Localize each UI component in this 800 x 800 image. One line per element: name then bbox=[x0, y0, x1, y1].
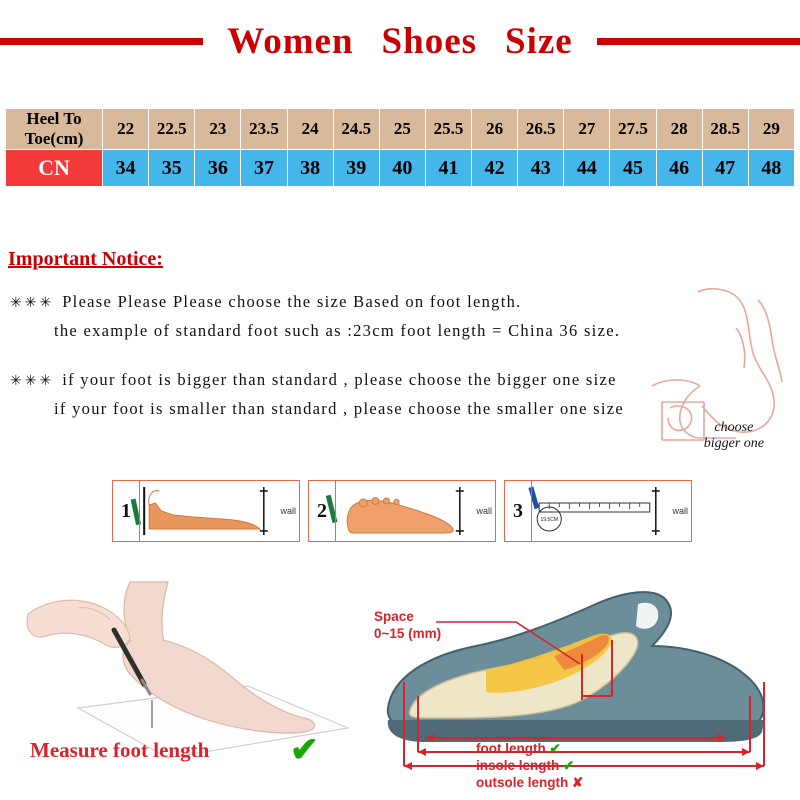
cell-cn-9: 43 bbox=[518, 150, 564, 187]
cell-heel-11: 27.5 bbox=[610, 109, 656, 150]
shoe-legend: foot length ✔ insole length ✔ outsole le… bbox=[476, 740, 583, 791]
cell-heel-5: 24.5 bbox=[333, 109, 379, 150]
choose-bigger-line-2: bigger one bbox=[704, 436, 764, 452]
table-row-cn: CN 34 35 36 37 38 39 40 41 42 43 44 45 4… bbox=[6, 150, 795, 187]
step-2-illustration bbox=[309, 481, 495, 541]
cell-heel-9: 26.5 bbox=[518, 109, 564, 150]
measure-steps-strip: 1 wall 2 wall 3 bbox=[112, 480, 692, 542]
space-label-line-2: 0~15 (mm) bbox=[374, 625, 441, 642]
cell-heel-4: 24 bbox=[287, 109, 333, 150]
title-word-1: Women bbox=[227, 21, 353, 62]
legend-label-insole-length: insole length bbox=[476, 758, 559, 773]
choose-bigger-note: choose bigger one bbox=[704, 420, 764, 452]
cell-cn-10: 44 bbox=[564, 150, 610, 187]
legend-item-insole-length: insole length ✔ bbox=[476, 757, 583, 774]
legend-label-foot-length: foot length bbox=[476, 741, 546, 756]
notice-gap bbox=[10, 344, 710, 366]
cell-heel-7: 25.5 bbox=[425, 109, 471, 150]
step-box-2: 2 wall bbox=[308, 480, 496, 542]
notice-line-3: ✳✳✳if your foot is bigger than standard … bbox=[10, 366, 710, 395]
cell-cn-0: 34 bbox=[103, 150, 149, 187]
title-word-3: Size bbox=[505, 21, 573, 62]
shoe-cross-section-diagram: Space 0~15 (mm) foot length ✔ insole len… bbox=[366, 570, 796, 785]
title-bar-right bbox=[597, 38, 800, 45]
stars-icon-1: ✳✳✳ bbox=[10, 296, 54, 311]
measure-foot-caption: Measure foot length bbox=[30, 738, 209, 763]
stars-icon-2: ✳✳✳ bbox=[10, 374, 54, 389]
legend-item-outsole-length: outsole length ✘ bbox=[476, 774, 583, 791]
cell-cn-7: 41 bbox=[425, 150, 471, 187]
choose-bigger-line-1: choose bbox=[704, 420, 764, 436]
step-3-wall-label: wall bbox=[672, 506, 688, 516]
cell-cn-11: 45 bbox=[610, 150, 656, 187]
cell-cn-5: 39 bbox=[333, 150, 379, 187]
title-word-2: Shoes bbox=[382, 21, 477, 62]
cell-heel-10: 27 bbox=[564, 109, 610, 150]
step-1-illustration bbox=[113, 481, 299, 541]
legend-mark-foot-length: ✔ bbox=[550, 741, 561, 756]
cell-heel-14: 29 bbox=[748, 109, 794, 150]
cell-heel-13: 28.5 bbox=[702, 109, 748, 150]
legend-mark-outsole-length: ✘ bbox=[572, 775, 583, 790]
step-box-3: 3 19.5CM wall bbox=[504, 480, 692, 542]
step-number-3: 3 bbox=[505, 481, 532, 541]
title-text: WomenShoesSize bbox=[203, 20, 596, 63]
notice-block: ✳✳✳Please Please Please choose the size … bbox=[10, 288, 710, 422]
notice-line-1: ✳✳✳Please Please Please choose the size … bbox=[10, 288, 710, 317]
legend-mark-insole-length: ✔ bbox=[563, 758, 574, 773]
step-2-wall-label: wall bbox=[476, 506, 492, 516]
step-number-2: 2 bbox=[309, 481, 336, 541]
notice-text-3: if your foot is bigger than standard , p… bbox=[62, 370, 617, 389]
cell-cn-3: 37 bbox=[241, 150, 287, 187]
cell-cn-4: 38 bbox=[287, 150, 333, 187]
step-1-wall-label: wall bbox=[280, 506, 296, 516]
notice-heading: Important Notice: bbox=[8, 248, 163, 271]
cell-cn-1: 35 bbox=[149, 150, 195, 187]
row-label-heel-to-toe: Heel To Toe(cm) bbox=[6, 109, 103, 150]
cell-cn-6: 40 bbox=[379, 150, 425, 187]
row-label-cn: CN bbox=[6, 150, 103, 187]
cell-cn-8: 42 bbox=[472, 150, 518, 187]
legend-item-foot-length: foot length ✔ bbox=[476, 740, 583, 757]
cell-cn-12: 46 bbox=[656, 150, 702, 187]
step-box-1: 1 wall bbox=[112, 480, 300, 542]
cell-heel-6: 25 bbox=[379, 109, 425, 150]
measure-check-icon: ✔ bbox=[290, 730, 319, 770]
step-3-illustration: 19.5CM bbox=[505, 481, 691, 541]
size-conversion-table: Heel To Toe(cm) 22 22.5 23 23.5 24 24.5 … bbox=[5, 108, 795, 187]
cell-cn-14: 48 bbox=[748, 150, 794, 187]
notice-text-1: Please Please Please choose the size Bas… bbox=[62, 292, 521, 311]
svg-text:19.5CM: 19.5CM bbox=[540, 517, 558, 523]
space-label: Space 0~15 (mm) bbox=[374, 608, 441, 642]
table-row-heel-to-toe: Heel To Toe(cm) 22 22.5 23 23.5 24 24.5 … bbox=[6, 109, 795, 150]
step-number-1: 1 bbox=[113, 481, 140, 541]
cell-heel-8: 26 bbox=[472, 109, 518, 150]
cell-heel-2: 23 bbox=[195, 109, 241, 150]
title-bar-left bbox=[0, 38, 203, 45]
legend-label-outsole-length: outsole length bbox=[476, 775, 568, 790]
cell-heel-1: 22.5 bbox=[149, 109, 195, 150]
cell-heel-0: 22 bbox=[103, 109, 149, 150]
space-label-line-1: Space bbox=[374, 608, 441, 625]
cell-cn-13: 47 bbox=[702, 150, 748, 187]
cell-heel-3: 23.5 bbox=[241, 109, 287, 150]
cell-heel-12: 28 bbox=[656, 109, 702, 150]
notice-text-2: the example of standard foot such as :23… bbox=[10, 317, 710, 344]
page-title: WomenShoesSize bbox=[0, 16, 800, 66]
cell-cn-2: 36 bbox=[195, 150, 241, 187]
notice-text-4: if your foot is smaller than standard , … bbox=[10, 395, 710, 422]
